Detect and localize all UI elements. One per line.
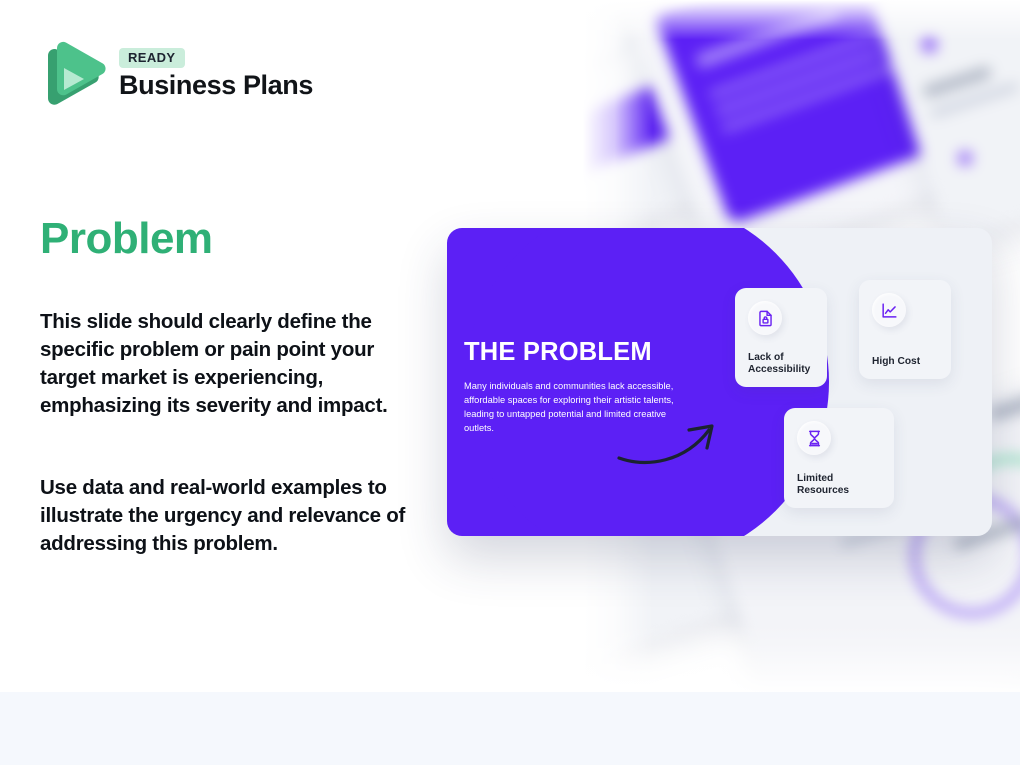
brand-text: READY Business Plans xyxy=(119,48,313,99)
feature-tile-high-cost[interactable]: High Cost xyxy=(859,280,951,379)
hourglass-icon xyxy=(797,421,831,455)
description-paragraph-2: Use data and real-world examples to illu… xyxy=(40,474,415,558)
slide-page: THE PROBLEM Many individuals and communi… xyxy=(0,0,1020,765)
bg-dot xyxy=(956,149,974,167)
feature-tile-label: Lack of Accessibility xyxy=(748,352,822,376)
document-lock-icon xyxy=(748,301,782,335)
brand-lockup[interactable]: READY Business Plans xyxy=(40,36,313,112)
feature-tile-lack-of-accessibility[interactable]: Lack of Accessibility xyxy=(735,288,827,387)
description-paragraph-1: This slide should clearly define the spe… xyxy=(40,308,415,420)
feature-tile-limited-resources[interactable]: Limited Resources xyxy=(784,408,894,508)
slide-preview-card[interactable]: THE PROBLEM Many individuals and communi… xyxy=(447,228,992,536)
bg-bar xyxy=(988,381,1020,422)
brand-name: Business Plans xyxy=(119,71,313,99)
feature-tile-label: High Cost xyxy=(872,356,946,368)
preview-title: THE PROBLEM xyxy=(464,340,676,366)
line-chart-icon xyxy=(872,293,906,327)
ready-badge: READY xyxy=(119,48,185,68)
bottom-band xyxy=(0,692,1020,765)
page-title: Problem xyxy=(40,217,213,261)
feature-tile-label: Limited Resources xyxy=(797,473,881,497)
curved-arrow-icon xyxy=(617,418,727,471)
play-triangles-logo-icon xyxy=(40,36,106,112)
bg-dot xyxy=(919,35,939,55)
